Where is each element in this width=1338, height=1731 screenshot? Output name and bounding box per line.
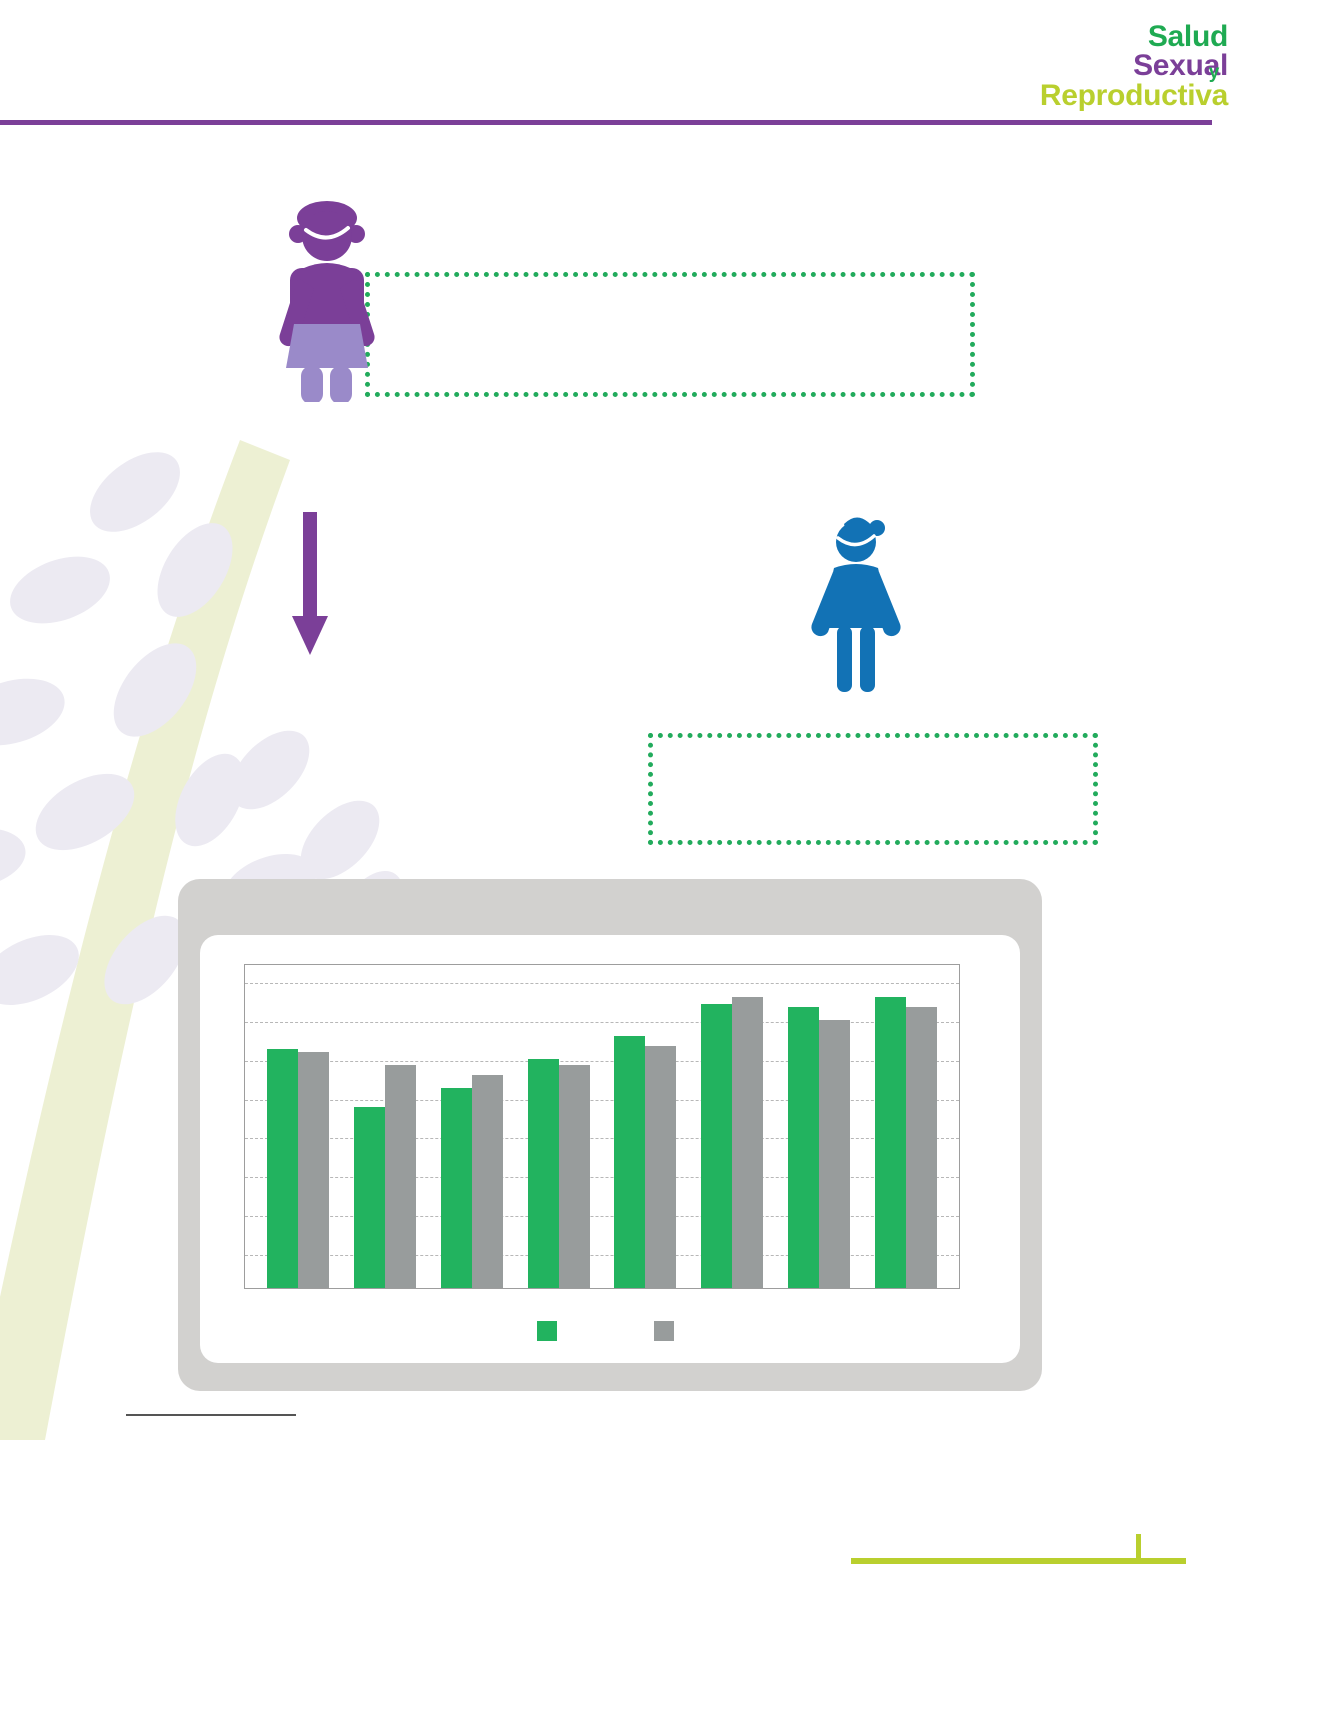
chart-legend [200, 1321, 1020, 1341]
tablet-frame [178, 879, 1042, 1391]
older-woman-figure-icon [268, 196, 386, 402]
bar-group [267, 965, 329, 1288]
bar-series-0 [788, 1007, 819, 1288]
young-woman-figure-icon [800, 512, 912, 692]
brand-line-reproductiva-text: Reproductiva [1040, 79, 1228, 112]
brand-logo: Salud Sexual y Reproductiva [1040, 22, 1228, 110]
bar-series-1 [298, 1052, 329, 1288]
legend-item-series-0 [537, 1321, 566, 1341]
answer-box-2[interactable] [648, 733, 1098, 845]
bar-series-0 [701, 1004, 732, 1288]
bar-series-0 [875, 997, 906, 1288]
bar-group [788, 965, 850, 1288]
chart-bars [245, 965, 959, 1288]
bar-group [528, 965, 590, 1288]
legend-item-series-1 [654, 1321, 683, 1341]
bar-group [441, 965, 503, 1288]
bar-series-0 [354, 1107, 385, 1288]
bar-series-1 [385, 1065, 416, 1288]
bar-series-1 [906, 1007, 937, 1288]
brand-line-reproductiva: y Reproductiva [1040, 81, 1228, 110]
brand-conjunction-y: y [1209, 64, 1219, 83]
footnote-divider [126, 1414, 296, 1416]
bar-series-0 [267, 1049, 298, 1288]
bar-group [614, 965, 676, 1288]
bar-series-0 [614, 1036, 645, 1288]
footer-page-tick [1136, 1534, 1141, 1564]
bar-series-1 [732, 997, 763, 1288]
bar-group [875, 965, 937, 1288]
brand-line-sexual: Sexual [1040, 51, 1228, 80]
tablet-screen [200, 935, 1020, 1363]
bar-series-0 [528, 1059, 559, 1288]
bar-series-1 [472, 1075, 503, 1288]
bar-series-0 [441, 1088, 472, 1288]
down-arrow-icon [290, 512, 330, 657]
legend-swatch-series-1 [654, 1321, 674, 1341]
bar-series-1 [559, 1065, 590, 1288]
legend-swatch-series-0 [537, 1321, 557, 1341]
header-divider [0, 120, 1212, 125]
page-root: Salud Sexual y Reproductiva [0, 0, 1338, 1731]
bar-group [354, 965, 416, 1288]
bar-series-1 [645, 1046, 676, 1288]
brand-line-salud: Salud [1040, 22, 1228, 51]
answer-box-1[interactable] [365, 272, 975, 397]
bar-chart-plot-area [244, 964, 960, 1289]
bar-group [701, 965, 763, 1288]
bar-series-1 [819, 1020, 850, 1288]
